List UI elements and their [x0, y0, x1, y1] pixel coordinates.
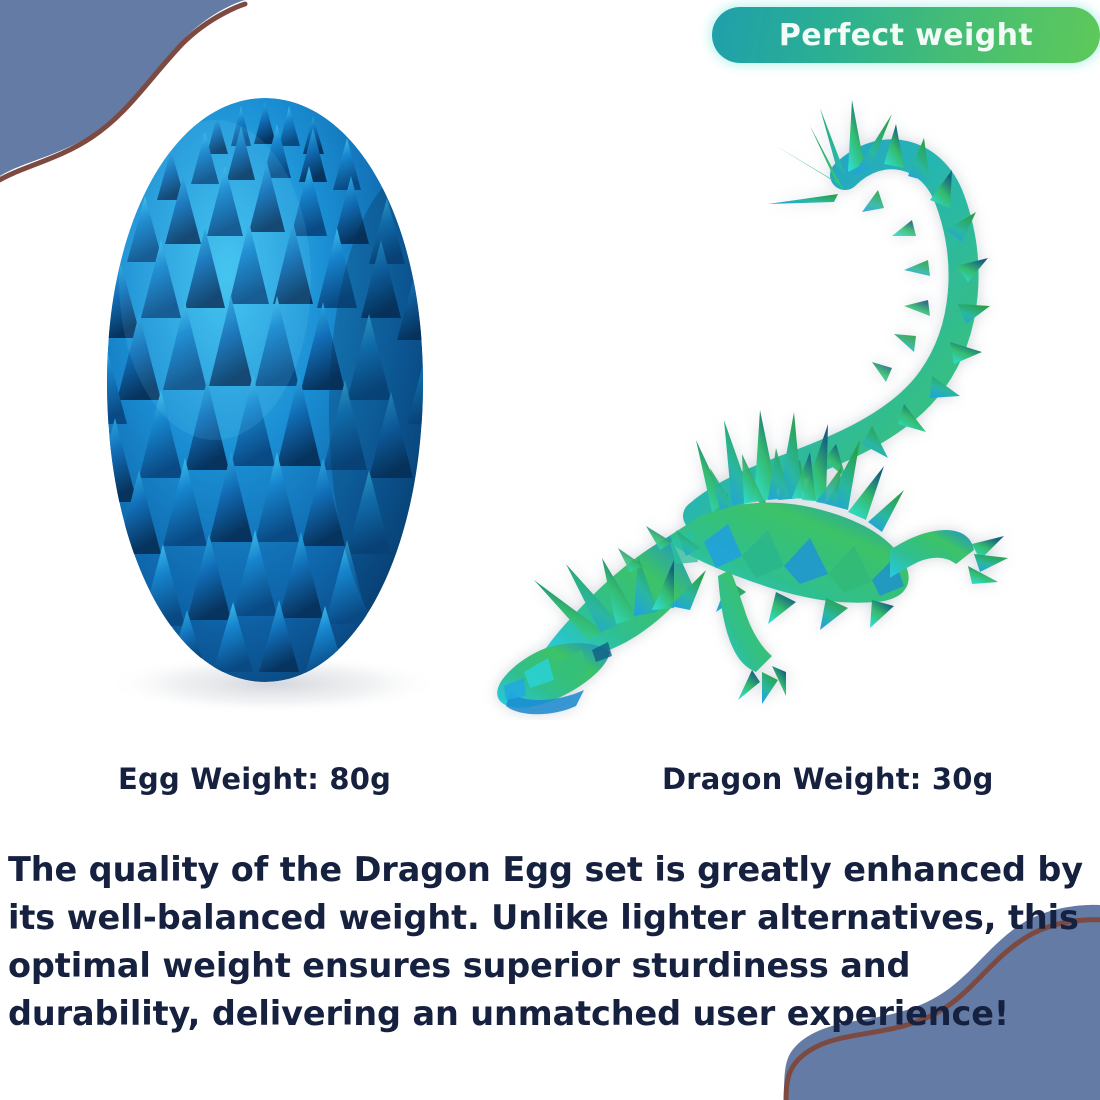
dragon-tail-tip — [768, 100, 892, 204]
dragon-egg-photo — [55, 80, 475, 720]
egg-weight-label: Egg Weight: 80g — [118, 762, 391, 796]
dragon-body-group — [497, 100, 1008, 714]
badge-label: Perfect weight — [779, 18, 1033, 53]
product-marketing-image: Perfect weight — [0, 0, 1100, 1100]
dragon-weight-label: Dragon Weight: 30g — [662, 762, 994, 796]
crystal-dragon-figure — [480, 80, 1080, 720]
crystal-dragon-photo — [480, 80, 1080, 720]
perfect-weight-badge: Perfect weight — [712, 7, 1100, 63]
dragon-egg-figure — [55, 80, 475, 720]
description-paragraph: The quality of the Dragon Egg set is gre… — [8, 846, 1094, 1038]
dragon-front-leg — [718, 570, 786, 704]
egg-body — [77, 98, 475, 682]
product-photo-row — [0, 80, 1100, 720]
dragon-torso — [666, 503, 909, 603]
egg-highlight — [119, 120, 311, 440]
